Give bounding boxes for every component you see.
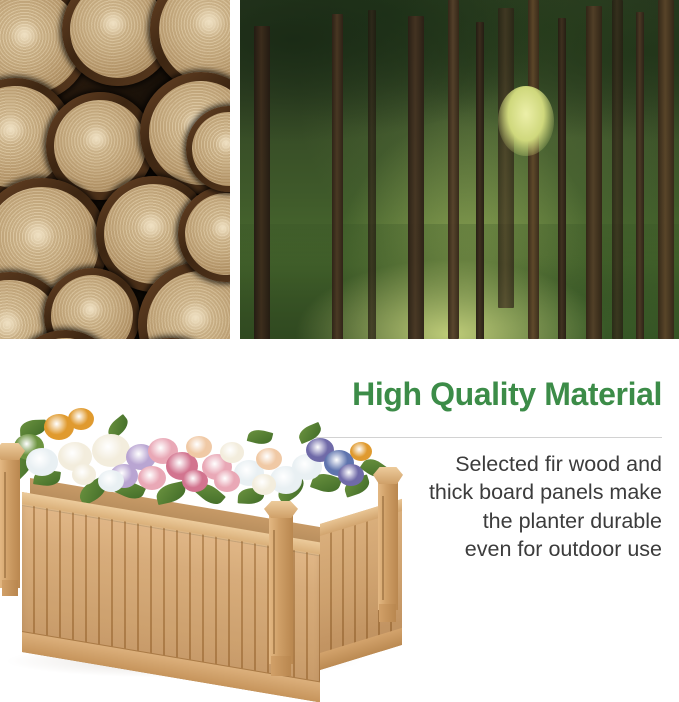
flower-cream-hydrangea bbox=[72, 464, 96, 485]
tree-trunk bbox=[586, 6, 602, 339]
foliage-leaf bbox=[247, 427, 274, 446]
photo-band bbox=[0, 0, 679, 339]
post-groove bbox=[4, 472, 6, 578]
marketing-image: High Quality Material Selected fir wood … bbox=[0, 0, 679, 679]
flower-pink-rose bbox=[214, 470, 240, 492]
corner-post-left bbox=[0, 456, 20, 588]
page-title: High Quality Material bbox=[270, 378, 662, 410]
sunlit-yellow-branch bbox=[498, 86, 554, 156]
tree-trunk bbox=[368, 10, 376, 339]
tree-trunk bbox=[612, 0, 623, 339]
flower-sunflower bbox=[350, 442, 372, 461]
flower-sunflower bbox=[68, 408, 94, 430]
flower-cream-hydrangea bbox=[220, 442, 244, 463]
flower-cream-hydrangea bbox=[252, 474, 276, 495]
flower-pink-rose bbox=[138, 466, 166, 490]
post-groove bbox=[382, 496, 384, 600]
planter-product-image bbox=[0, 408, 416, 679]
tree-trunk bbox=[658, 0, 674, 339]
planter-leg bbox=[271, 656, 291, 676]
stacked-cut-logs-photo bbox=[0, 0, 230, 339]
post-groove bbox=[273, 530, 275, 654]
post-cap-icon bbox=[373, 467, 403, 484]
corner-post-back-right bbox=[378, 480, 398, 610]
tree-trunk bbox=[636, 12, 644, 339]
flower-white-hydrangea bbox=[26, 448, 58, 476]
tree-trunk bbox=[332, 14, 343, 339]
tree-trunk bbox=[498, 8, 514, 308]
flower-cream-hydrangea bbox=[92, 434, 130, 467]
tree-trunk bbox=[254, 26, 270, 339]
post-cap-icon bbox=[264, 501, 298, 518]
fir-forest-photo bbox=[240, 0, 679, 339]
corner-post-front-right bbox=[269, 514, 293, 664]
planter-leg bbox=[2, 580, 18, 596]
tree-trunk bbox=[528, 0, 539, 339]
tree-trunk bbox=[558, 18, 566, 339]
tree-trunk bbox=[476, 22, 484, 339]
tree-trunk bbox=[448, 0, 459, 339]
tree-trunk bbox=[408, 16, 424, 339]
planter-leg bbox=[379, 604, 396, 622]
